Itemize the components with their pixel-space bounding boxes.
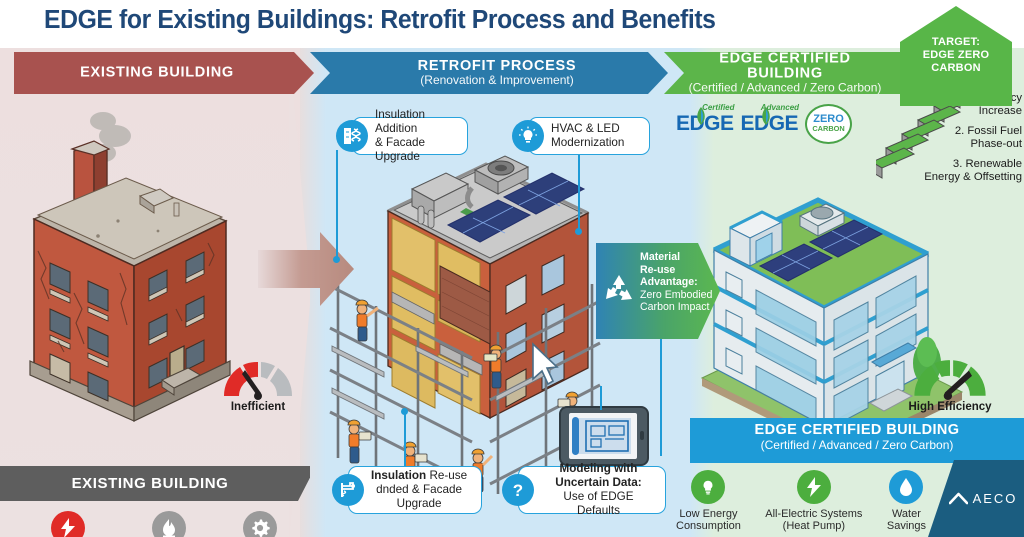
badges-edge-certified: Low Energy Consumption All-Electric Syst…	[676, 470, 926, 533]
badge-label-1: All-Electric Systems	[765, 508, 862, 520]
badge-low-energy: Low Energy Consumption	[676, 470, 741, 533]
badge-all-electric: All-Electric Systems (Heat Pump)	[765, 470, 862, 533]
bolt-icon	[797, 470, 831, 504]
lightbulb-icon	[691, 470, 725, 504]
mat-line-2: Re-use	[640, 264, 712, 277]
foot-bar-subtitle: (Certified / Advanced / Zero Carbon)	[690, 438, 1024, 452]
zero-carbon-badge: ZERO CARBON	[805, 104, 852, 144]
callout-rest: Re-use	[426, 469, 467, 482]
header-subtitle: (Certified / Advanced / Zero Carbon)	[680, 82, 890, 94]
leader-dot-hvac	[575, 228, 582, 235]
callout-line-1: Insulation Re-use	[371, 469, 467, 483]
header-retrofit-process: RETROFIT PROCESS (Renovation & Improveme…	[310, 52, 668, 94]
callout-text: HVAC & LED Modernization	[544, 117, 633, 155]
badge-high-energy: High Energy Consumption	[35, 511, 100, 537]
callout-bold: Insulation	[371, 469, 426, 482]
target-line-2: EDGE ZERO	[900, 49, 1012, 62]
gauge-dial-icon	[218, 358, 298, 400]
callout-line-3: Use of EDGE Defaults	[541, 490, 656, 518]
callout-line-1: Insulation Addition	[375, 108, 458, 136]
mat-line-5: Carbon Impact	[640, 301, 712, 314]
leader-line-tablet	[600, 386, 602, 410]
callout-line-3: Upgrade	[371, 497, 467, 511]
callout-line-1: HVAC & LED	[551, 122, 624, 136]
svg-text:?: ?	[513, 481, 523, 500]
leader-dot-insulation	[333, 256, 340, 263]
badge-fossil-fuel: Fossil Fuel Use	[142, 511, 195, 537]
gauge-label: High Efficiency	[896, 401, 1004, 413]
callout-text: Insulation Addition & Facade Upgrade	[368, 103, 467, 168]
badge-label-2: (Heat Pump)	[765, 520, 862, 532]
leader-dot-reuse	[401, 408, 408, 415]
gauge-dial-icon	[907, 356, 993, 400]
callout-line-2: Uncertain Data:	[541, 476, 656, 490]
callout-text: Modeling with Uncertain Data: Use of EDG…	[534, 457, 665, 522]
edge-advanced-logo: EDGE Advanced	[741, 112, 799, 136]
leader-line-reuse	[404, 410, 406, 468]
foot-bar-existing: EXISTING BUILDING	[0, 466, 310, 501]
header-title: EDGE CERTIFIED BUILDING	[680, 52, 890, 82]
infographic-root: EDGE for Existing Buildings: Retrofit Pr…	[0, 0, 1024, 537]
edge-certified-logo: EDGE Certified	[676, 112, 734, 136]
bolt-icon	[51, 511, 85, 537]
foot-bar-title: EDGE CERTIFIED BUILDING	[690, 418, 1024, 438]
house-chevron-icon	[949, 492, 968, 505]
leaf-icon	[758, 106, 773, 130]
recycle-icon	[602, 273, 636, 307]
panel-existing-building: EXISTING BUILDING High Energy Consumptio…	[0, 48, 310, 537]
callout-modeling-uncertain-data[interactable]: ? Modeling with Uncertain Data: Use of E…	[518, 466, 666, 514]
mat-line-4: Zero Embodied	[640, 289, 712, 302]
badge-label-1: Low Energy	[676, 508, 741, 520]
gear-icon	[243, 511, 277, 537]
waterdrop-icon	[889, 470, 923, 504]
insulation-icon	[336, 120, 368, 152]
target-line-1: TARGET:	[900, 36, 1012, 49]
foot-bar-edge-certified: EDGE CERTIFIED BUILDING (Certified / Adv…	[690, 418, 1024, 463]
gauge-label: Inefficient	[212, 401, 304, 413]
header-title: RETROFIT PROCESS	[326, 59, 668, 74]
badges-existing: High Energy Consumption Fossil Fuel Use …	[14, 511, 304, 537]
badge-water-savings: Water Savings	[887, 470, 926, 533]
badge-outdated-systems: Outdated Systems	[238, 511, 283, 537]
header-existing-building: EXISTING BUILDING	[14, 52, 314, 94]
foot-bar-existing-title: EXISTING BUILDING	[0, 466, 310, 501]
callout-text: Insulation Re-use dnded & Facade Upgrade	[364, 464, 476, 515]
callout-line-2: & Facade Upgrade	[375, 136, 458, 164]
callout-line-2: dnded & Facade	[371, 483, 467, 497]
callout-hvac-led[interactable]: HVAC & LED Modernization	[528, 117, 650, 155]
mat-line-1: Material	[640, 251, 712, 264]
material-reuse-arrow: Material Re-use Advantage: Zero Embodied…	[596, 243, 720, 339]
aeco-wordmark: AECO	[973, 491, 1018, 506]
leader-line-hvac	[578, 150, 580, 232]
badge-label-2: Savings	[887, 520, 926, 532]
target-line-3: CARBON	[900, 62, 1012, 75]
callout-insulation-addition[interactable]: Insulation Addition & Facade Upgrade	[352, 117, 468, 155]
material-arrow-text: Material Re-use Advantage: Zero Embodied…	[640, 251, 712, 314]
leader-line-insulation	[336, 150, 338, 260]
zero-carbon-line-2: CARBON	[812, 125, 844, 133]
badge-label-2: Consumption	[676, 520, 741, 532]
leaf-icon	[693, 106, 708, 130]
steps-list: 1. Efficiency Increase 2. Fossil Fuel Ph…	[918, 92, 1022, 192]
gauge-inefficient: Inefficient	[212, 358, 304, 413]
callout-line-1: Modeling with	[541, 462, 656, 476]
step-item: 3. Renewable Energy & Offsetting	[918, 158, 1022, 184]
target-arrow: TARGET: EDGE ZERO CARBON	[900, 6, 1012, 106]
gauge-high-efficiency: High Efficiency	[896, 356, 1004, 413]
page-title: EDGE for Existing Buildings: Retrofit Pr…	[44, 6, 716, 35]
mat-line-3: Advantage:	[640, 276, 712, 289]
pipe-icon	[332, 474, 364, 506]
step-item: 2. Fossil Fuel Phase-out	[918, 125, 1022, 151]
badge-label-1: Water	[887, 508, 926, 520]
lightbulb-icon	[512, 120, 544, 152]
question-icon: ?	[502, 474, 534, 506]
callout-line-2: Modernization	[551, 136, 624, 150]
edge-logos: EDGE Certified EDGE Advanced ZERO CARBON	[676, 104, 852, 144]
header-subtitle: (Renovation & Improvement)	[326, 74, 668, 86]
flame-icon	[152, 511, 186, 537]
callout-insulation-reuse[interactable]: Insulation Re-use dnded & Facade Upgrade	[348, 466, 482, 514]
header-title: EXISTING BUILDING	[14, 65, 300, 80]
